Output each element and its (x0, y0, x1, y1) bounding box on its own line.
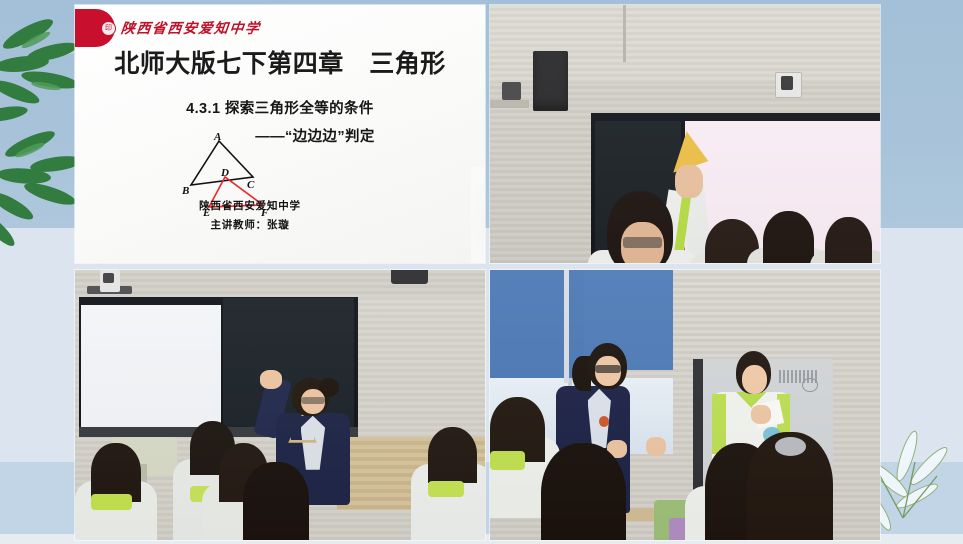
student-hands (675, 165, 702, 199)
cabinet-logo-icon (802, 378, 818, 392)
wall-camera-lens-icon (103, 273, 114, 284)
ceiling-pole (623, 5, 627, 62)
student-speaker-face (742, 365, 767, 395)
uniform-stripe-a (91, 494, 132, 510)
tri-label-A: A (213, 131, 221, 143)
foreground-student-b-head (541, 443, 627, 540)
school-logo-text: 陕西省西安爱知中学 (120, 18, 262, 38)
school-seal-icon: 印 (101, 21, 116, 36)
uniform-stripe-e (428, 481, 465, 497)
teacher-hand (260, 370, 283, 389)
teacher-hand-right (646, 437, 666, 456)
slide-title-chapter: 第四章 三角形 (267, 50, 446, 78)
lesson-slide-panel[interactable]: 印 陕西省西安爱知中学 北师大版七下第四章 三角形 4.3.1 探索三角形全等的… (75, 5, 485, 263)
wall-speaker (391, 270, 428, 284)
wall-camera-icon (502, 82, 522, 100)
student-hand (751, 405, 771, 424)
wall-speaker (533, 51, 568, 110)
camera-shelf (490, 100, 529, 108)
teacher-glasses (595, 365, 620, 373)
tri-label-D: D (220, 167, 229, 179)
student-d-head (243, 462, 309, 540)
tri-label-B: B (181, 185, 189, 197)
uniform-stripe-fg-a (490, 451, 525, 470)
teacher-glasses (301, 397, 326, 404)
wall-panel-right (673, 270, 880, 362)
gradient-leaf-graphic-icon (478, 173, 485, 263)
slide-title-edition: 北师大版七下 (114, 50, 267, 78)
teacher-badge-pin (599, 416, 609, 427)
window-blind-left (490, 270, 584, 378)
classmate-b-head (763, 211, 814, 263)
tri-label-C: C (247, 179, 255, 191)
slide-subtitle-line1: 4.3.1 探索三角形全等的条件 (75, 97, 485, 118)
slide-school-name: 陕西省西安爱知中学 (75, 198, 485, 213)
classroom-video-teacher-at-blackboard[interactable] (75, 270, 485, 540)
slide-teacher-name: 主讲教师：张璇 (75, 217, 485, 232)
slide-main-title: 北师大版七下第四章 三角形 (75, 50, 485, 80)
classroom-video-student-holding-paper[interactable] (490, 5, 880, 263)
classroom-video-teacher-and-student[interactable] (490, 270, 880, 540)
blind-pole (564, 270, 569, 383)
student-e-head (428, 427, 477, 484)
document-camera-lens-icon (781, 76, 793, 90)
student-glasses (623, 237, 662, 247)
uniform-stripe-left (712, 394, 726, 453)
screen-stage: 印 陕西省西安爱知中学 北师大版七下第四章 三角形 4.3.1 探索三角形全等的… (0, 0, 963, 544)
projection-screen (81, 305, 220, 427)
